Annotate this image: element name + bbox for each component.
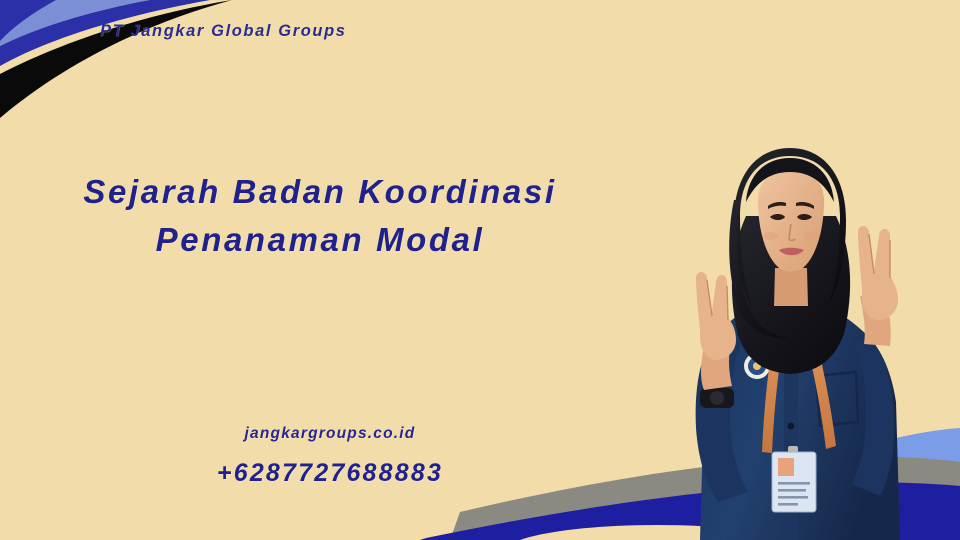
hand-right-peace-sign — [858, 226, 898, 320]
contact-block: jangkargroups.co.id +6287727688883 — [0, 425, 660, 488]
shirt-button — [788, 423, 795, 430]
website-url[interactable]: jangkargroups.co.id — [0, 425, 660, 443]
page-title: Sejarah Badan Koordinasi Penanaman Modal — [0, 168, 640, 264]
page-title-line-1: Sejarah Badan Koordinasi — [0, 168, 640, 216]
marketing-banner: PT Jangkar Global Groups Sejarah Badan K… — [0, 0, 960, 540]
neck — [774, 268, 808, 306]
watch-face-icon — [710, 391, 724, 405]
person-photo — [638, 140, 938, 540]
phone-number[interactable]: +6287727688883 — [0, 459, 660, 488]
brand-name: PT Jangkar Global Groups — [100, 22, 347, 41]
hand-left-peace-sign — [696, 272, 736, 360]
page-title-line-2: Penanaman Modal — [0, 216, 640, 264]
black-swoosh-shape — [0, 0, 232, 118]
